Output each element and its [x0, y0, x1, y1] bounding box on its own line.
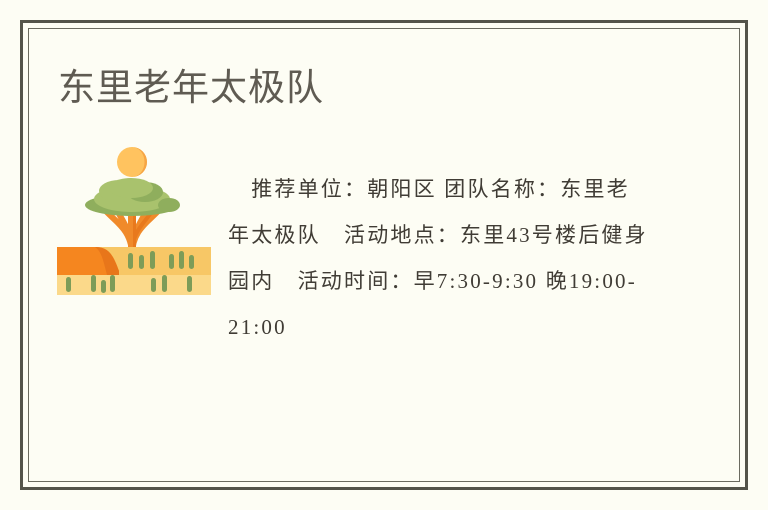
team-details-text: 推荐单位：朝阳区 团队名称：东里老年太极队 活动地点：东里43号楼后健身园内 活… [228, 166, 648, 350]
info-card: 东里老年太极队 [0, 0, 768, 510]
sun-icon [117, 147, 147, 177]
savanna-illustration-svg [57, 143, 211, 295]
savanna-illustration [57, 143, 211, 295]
page-title: 东里老年太极队 [58, 64, 324, 112]
team-details-combined: 推荐单位：朝阳区 团队名称：东里老年太极队 活动地点：东里43号楼后健身园内 活… [228, 177, 648, 339]
tree-canopy [85, 178, 180, 216]
